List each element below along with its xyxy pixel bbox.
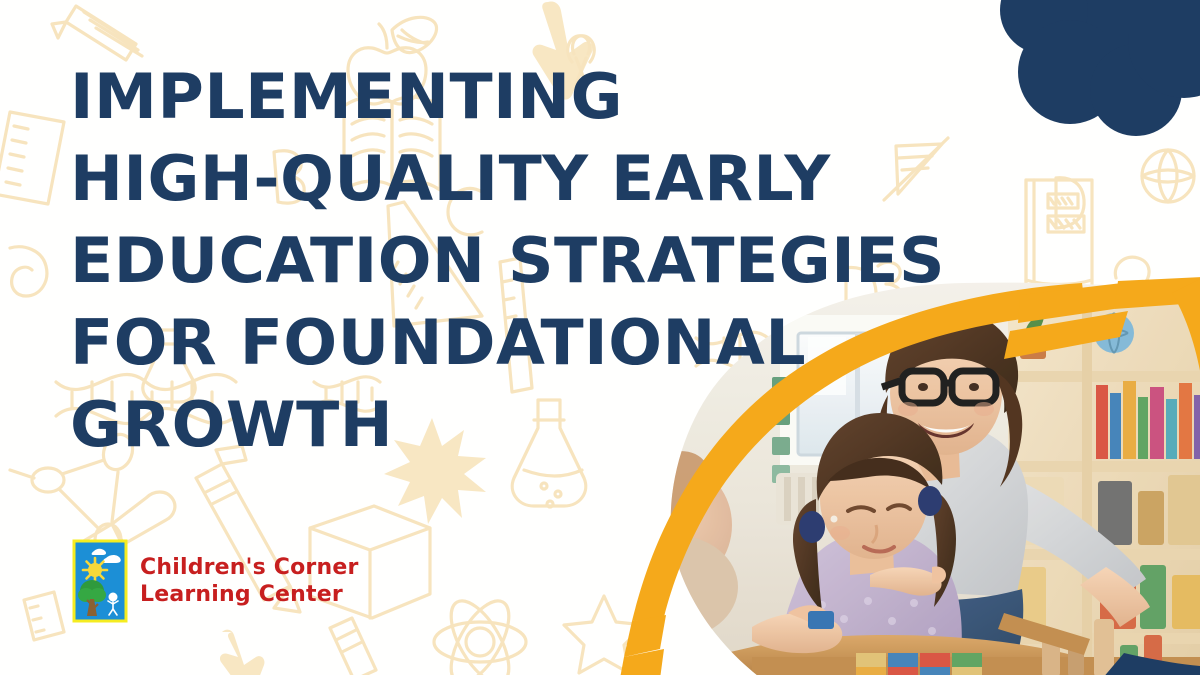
navy-cloud-blob	[984, 0, 1200, 174]
letter-c-doodle	[1024, 396, 1056, 439]
atom-doodle	[434, 592, 526, 675]
slide-canvas: Implementing High-Quality Early Educatio…	[0, 0, 1200, 675]
globe-doodle	[1142, 150, 1194, 202]
pencil-doodle	[52, 6, 142, 60]
teacher-hand	[870, 566, 946, 595]
brand-logo-lockup[interactable]: Children's Corner Learning Center	[72, 539, 359, 623]
headline-line-4: for Foundational	[70, 302, 917, 384]
ruler-doodle	[0, 112, 64, 204]
logo-line-1: Children's Corner	[140, 554, 359, 581]
page-title: Implementing High-Quality Early Educatio…	[70, 56, 900, 466]
book-doodle	[1026, 180, 1092, 296]
headline-line-3: Education Strategies	[70, 220, 917, 302]
clip-doodle	[10, 247, 47, 296]
arrow-doodle	[220, 630, 264, 675]
star-doodle	[564, 596, 644, 673]
letter-d-doodle	[1056, 178, 1084, 228]
sun-icon	[83, 558, 107, 582]
childrens-corner-badge	[72, 539, 128, 623]
headline-line-1: Implementing	[70, 56, 917, 138]
logo-line-2: Learning Center	[140, 581, 359, 608]
ruler-doodle	[24, 592, 64, 640]
headline-line-5: Growth	[70, 384, 917, 466]
navy-corner-wedge	[1102, 653, 1200, 675]
pencil-doodle	[330, 618, 376, 675]
logo-wordmark: Children's Corner Learning Center	[140, 554, 359, 608]
headline-line-2: High-Quality Early	[70, 138, 917, 220]
question-mark-doodle	[1115, 257, 1149, 327]
